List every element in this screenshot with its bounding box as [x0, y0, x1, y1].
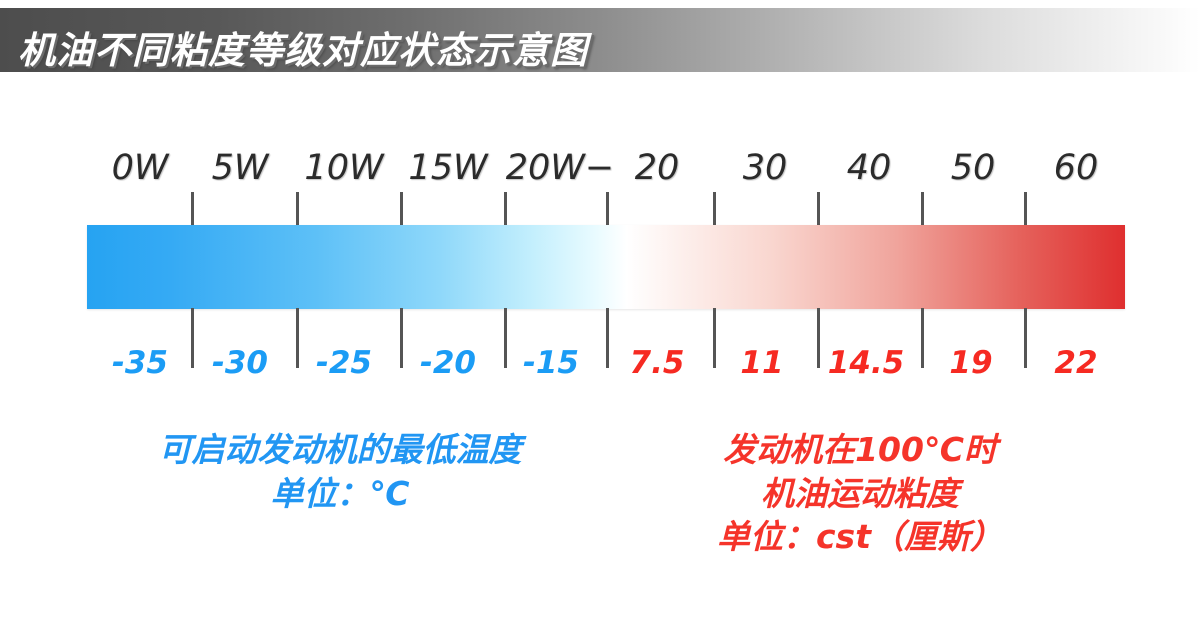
grade-label: 0W [112, 148, 169, 188]
tick-mark-bottom [606, 308, 609, 368]
caption-hot-viscosity: 发动机在100℃时 机油运动粘度 单位：cst（厘斯） [640, 428, 1080, 559]
hot-viscosity-value: 22 [1054, 345, 1097, 381]
tick-mark-bottom [817, 308, 820, 368]
tick-mark-top [296, 192, 299, 226]
grade-label: 30 [743, 148, 788, 188]
tick-mark-top [191, 192, 194, 226]
tick-mark-bottom [504, 308, 507, 368]
grade-label: 20W− [506, 148, 614, 188]
tick-mark-bottom [191, 308, 194, 368]
hot-viscosity-value: 14.5 [828, 345, 905, 381]
tick-mark-bottom [296, 308, 299, 368]
grade-label: 20 [635, 148, 680, 188]
tick-mark-top [817, 192, 820, 226]
cold-temperature-value: -30 [212, 345, 268, 381]
grade-label: 15W [408, 148, 487, 188]
tick-mark-bottom [1024, 308, 1027, 368]
tick-mark-top [606, 192, 609, 226]
hot-viscosity-value: 19 [949, 345, 992, 381]
grade-label: 10W [304, 148, 383, 188]
cold-temperature-value: -20 [420, 345, 476, 381]
viscosity-scale-diagram: 0W5W10W15W20W−2030405060 -35-30-25-20-15… [0, 0, 1200, 629]
grade-label: 5W [212, 148, 269, 188]
tick-mark-top [921, 192, 924, 226]
cold-temperature-value: -15 [523, 345, 579, 381]
grade-label: 60 [1054, 148, 1099, 188]
cold-temperature-value: -35 [112, 345, 168, 381]
tick-mark-top [713, 192, 716, 226]
tick-mark-top [1024, 192, 1027, 226]
tick-mark-top [400, 192, 403, 226]
temperature-gradient-bar [87, 225, 1125, 309]
hot-viscosity-value: 11 [740, 345, 783, 381]
grade-label: 40 [847, 148, 892, 188]
cold-temperature-value: -25 [316, 345, 372, 381]
tick-mark-bottom [713, 308, 716, 368]
caption-cold-start-temperature: 可启动发动机的最低温度 单位：℃ [60, 428, 620, 515]
hot-viscosity-value: 7.5 [630, 345, 685, 381]
tick-mark-bottom [921, 308, 924, 368]
tick-mark-top [504, 192, 507, 226]
grade-label: 50 [951, 148, 996, 188]
tick-mark-bottom [400, 308, 403, 368]
